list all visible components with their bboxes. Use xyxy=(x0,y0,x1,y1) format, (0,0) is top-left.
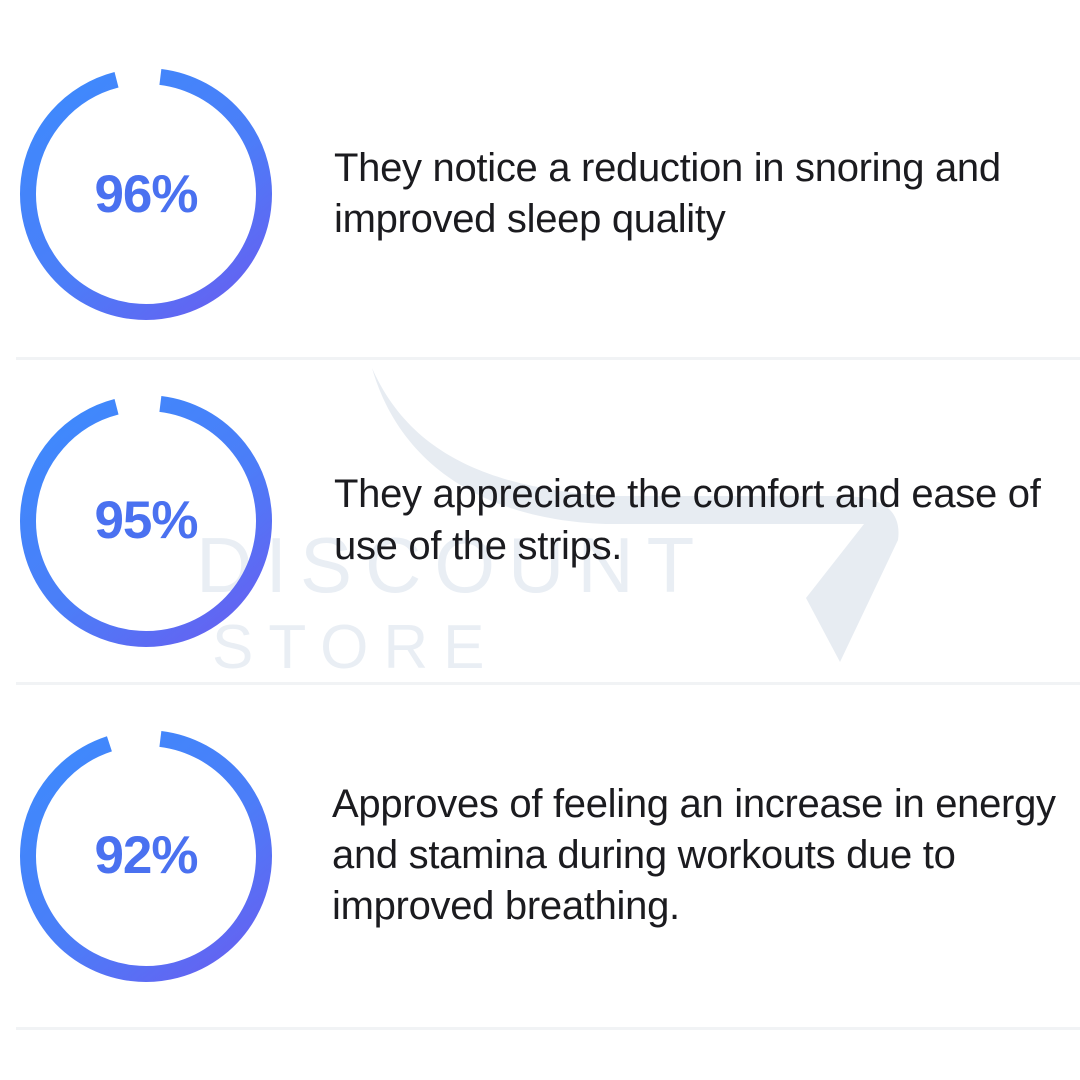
donut-chart: 92% xyxy=(6,716,286,996)
donut-chart: 95% xyxy=(6,381,286,661)
stat-percentage-value: 96% xyxy=(94,164,197,225)
stat-description: Approves of feeling an increase in energ… xyxy=(286,779,1080,933)
row-divider xyxy=(16,682,1080,685)
stat-percentage-value: 95% xyxy=(94,490,197,551)
stat-row: 95% They appreciate the comfort and ease… xyxy=(0,358,1080,683)
stat-description: They notice a reduction in snoring and i… xyxy=(286,143,1080,245)
donut-chart: 96% xyxy=(6,54,286,334)
stat-percentage-value: 92% xyxy=(94,825,197,886)
stat-row: 92% Approves of feeling an increase in e… xyxy=(0,683,1080,1028)
stat-description: They appreciate the comfort and ease of … xyxy=(286,469,1080,571)
row-divider xyxy=(16,357,1080,360)
stat-row: 96% They notice a reduction in snoring a… xyxy=(0,30,1080,358)
row-divider xyxy=(16,1027,1080,1030)
statistics-list: 96% They notice a reduction in snoring a… xyxy=(0,0,1080,1080)
